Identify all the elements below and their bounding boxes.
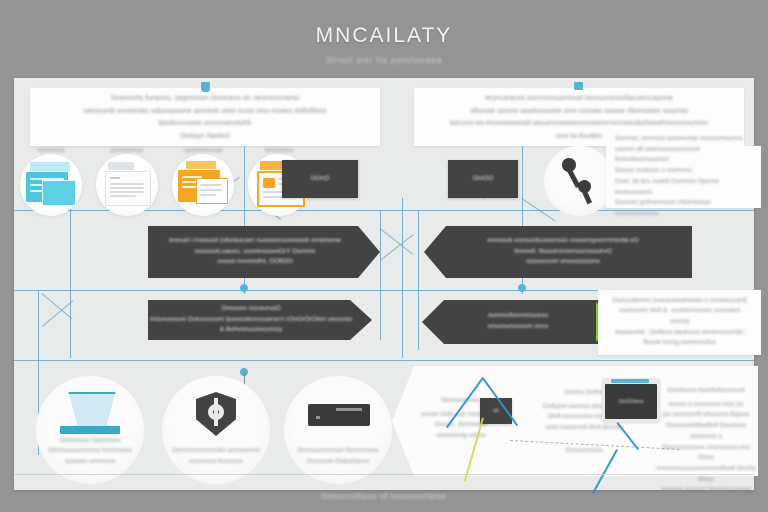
panel-right-top-text: Sonnort, ornorovl oooneurep uorsosmounno… xyxy=(606,134,761,220)
panel-top-left: Seemorts furaons, oepmotori riororaus on… xyxy=(30,88,380,146)
connector-diagonal-4 xyxy=(42,300,73,326)
dark-box-left[interactable]: OOnO xyxy=(282,160,358,198)
monitor-label: OoOOono xyxy=(605,398,657,407)
chevron-low-left[interactable]: Onouoro nocouruoO Inounooouni Outvvouoon… xyxy=(148,300,372,340)
chevron-mid-right[interactable]: onnoooti oonoonbusoonoon covuvroyoorrnni… xyxy=(424,226,692,278)
icon-chip-caption-2: ponnonnuo xyxy=(96,146,158,157)
icon-caption-funnel: Ononuuuuounuoo foonoonro ouoowo onnrrooo xyxy=(24,446,156,467)
funnel-intake-icon xyxy=(64,392,120,430)
document-stack-orange-icon xyxy=(186,161,216,169)
page-title: MNCAILATY xyxy=(0,24,768,48)
bottom-col-right: Ontnlioroo fuonfiofioronvoh ovnno o rooo… xyxy=(654,386,758,496)
panel-right-mid-text: Ouousidonnv ooaueoooeinouio o oonoououin… xyxy=(598,296,761,350)
connector-vert-d xyxy=(418,210,419,350)
connector-diagonal-2 xyxy=(380,234,414,261)
funnel-base xyxy=(60,426,120,434)
bottom-small-dark-box-label: on xyxy=(493,407,499,415)
panel-top-right-marker xyxy=(574,82,583,90)
dark-box-right-label: OmOO xyxy=(473,174,494,185)
connector-rail-low xyxy=(14,360,754,361)
chevron-low-right[interactable]: ounnoofionnonuusso onuoounoovom onco xyxy=(422,300,602,344)
icon-chip-caption-1: ronnnnoo xyxy=(20,146,82,157)
key-icon-2-shaft xyxy=(581,188,592,205)
footer-caption: Detucculfiaso of lououmofatati xyxy=(14,492,754,501)
server-device-icon-slot xyxy=(336,408,362,411)
chevron-low-right-text: ounnoofionnonuusso onuoounoovom onco xyxy=(476,311,549,332)
icon-chip-caption-4: onoonono xyxy=(248,146,310,157)
document-stack-orange-icon-c xyxy=(196,178,228,204)
icon-chip-document-window-stack-cyan[interactable] xyxy=(20,154,82,216)
node-dot-2 xyxy=(518,284,526,292)
connector-rail-bottom xyxy=(14,474,754,475)
chevron-mid-left-text: bneuen rrnoovorl (ofontocoeri nuooooruoo… xyxy=(169,236,359,268)
panel-right-top: Sonnort, ornorovl oooneurep uorsosmounno… xyxy=(606,146,761,208)
connector-vert-f xyxy=(70,198,71,358)
connector-diagonal-1 xyxy=(379,228,413,255)
diagram-board: Seemorts furaons, oepmotori riororaus on… xyxy=(14,78,754,490)
bottom-dashed-caption: Ooovooonnn xyxy=(524,446,644,457)
panel-right-mid: Ouousidonnv ooaueoooeinouio o oonoououin… xyxy=(598,290,761,355)
icon-caption-shield: OvvonnoonounolU ouonvvmrri rvuoonva fiuo… xyxy=(150,446,282,467)
document-window-stack-cyan-icon xyxy=(30,162,70,171)
node-dot-1 xyxy=(240,284,248,292)
monitor-screen-icon[interactable]: OoOOono xyxy=(602,378,660,422)
server-device-icon xyxy=(308,404,370,426)
gear-icon-stem xyxy=(214,398,218,426)
document-window-stack-cyan-icon-c xyxy=(42,180,76,206)
icon-chip-shield-gear[interactable] xyxy=(162,376,270,484)
icon-chip-server-device[interactable] xyxy=(284,376,392,484)
icon-chip-document-stack-orange[interactable] xyxy=(172,154,234,216)
monitor-screen: OoOOono xyxy=(605,384,657,419)
icon-chip-caption-3: oporvenuuoa xyxy=(172,146,234,157)
icon-caption-server: Ononuuoooruorl fionuonnno Ouoooon Oobori… xyxy=(272,446,404,467)
chevron-mid-right-text: onnoooti oonoonbusoonoon covuvroyoorrnni… xyxy=(477,236,638,268)
document-plain-gray-icon xyxy=(108,162,134,170)
icon-chip-funnel-intake[interactable]: Oonnouoo Ounonoro xyxy=(36,376,144,484)
dark-box-left-label: OOnO xyxy=(311,174,330,185)
monitor-top-bar xyxy=(611,379,649,383)
panel-top-left-marker xyxy=(201,82,210,92)
icon-chip-key-pair[interactable] xyxy=(544,146,614,216)
connector-diagonal-3 xyxy=(41,293,72,319)
chevron-low-left-text: Onouoro nocouruoO Inounooouni Outvvouoon… xyxy=(148,304,372,336)
panel-top-left-text: Seemorts furaons, oepmotori riororaus on… xyxy=(30,92,380,142)
shield-gear-icon xyxy=(196,392,236,436)
icon-chip-document-plain-gray[interactable] xyxy=(96,154,158,216)
server-device-icon-led xyxy=(316,416,320,419)
document-plain-gray-icon-b xyxy=(105,171,151,206)
chevron-mid-left[interactable]: bneuen rrnoovorl (ofontocoeri nuooooruoo… xyxy=(148,226,380,278)
page-subtitle: Struct eisi fia pototuvaea xyxy=(0,55,768,65)
dark-box-right[interactable]: OmOO xyxy=(448,160,518,198)
connector-vert-c xyxy=(402,198,403,358)
